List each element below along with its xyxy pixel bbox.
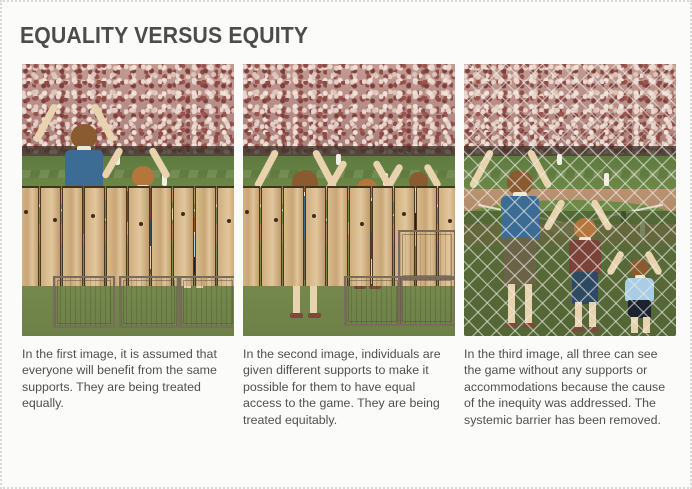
caption-justice: In the third image, all three can see th… [464, 346, 676, 428]
fence-plank [106, 186, 127, 286]
panel-equity [243, 64, 455, 336]
fence-plank [217, 186, 234, 286]
fence-plank [62, 186, 83, 286]
right-shoe [308, 313, 321, 318]
caption-row: In the first image, it is assumed that e… [22, 346, 677, 428]
fence-plank [128, 186, 149, 286]
fence-plank [195, 186, 216, 286]
chain-link-fence [464, 64, 676, 336]
support-crate [398, 276, 455, 326]
fence-plank [173, 186, 194, 286]
illustration-panels [22, 64, 677, 336]
page-title: EQUALITY VERSUS EQUITY [20, 22, 308, 49]
fence-plank [243, 186, 260, 286]
caption-equality: In the first image, it is assumed that e… [22, 346, 234, 428]
panel-equality [22, 64, 234, 336]
left-shoe [290, 313, 303, 318]
fence-plank [283, 186, 304, 286]
fence-plank [22, 186, 39, 286]
fence-plank [84, 186, 105, 286]
support-crate [53, 276, 115, 328]
fence-plank [327, 186, 348, 286]
support-crate [344, 276, 402, 326]
fence-plank [372, 186, 393, 286]
panel-justice [464, 64, 676, 336]
fence-plank [349, 186, 370, 286]
stadium-crowd [243, 64, 455, 154]
support-crate [119, 276, 179, 328]
fence-plank [40, 186, 61, 286]
head [132, 166, 154, 187]
fence-plank [305, 186, 326, 286]
caption-equity: In the second image, individuals are giv… [243, 346, 455, 428]
solid-wood-fence [22, 186, 234, 286]
fence-plank [151, 186, 172, 286]
infographic-page: EQUALITY VERSUS EQUITY [0, 0, 692, 489]
fence-plank [261, 186, 282, 286]
support-crate [179, 276, 234, 328]
support-crate [398, 230, 455, 280]
